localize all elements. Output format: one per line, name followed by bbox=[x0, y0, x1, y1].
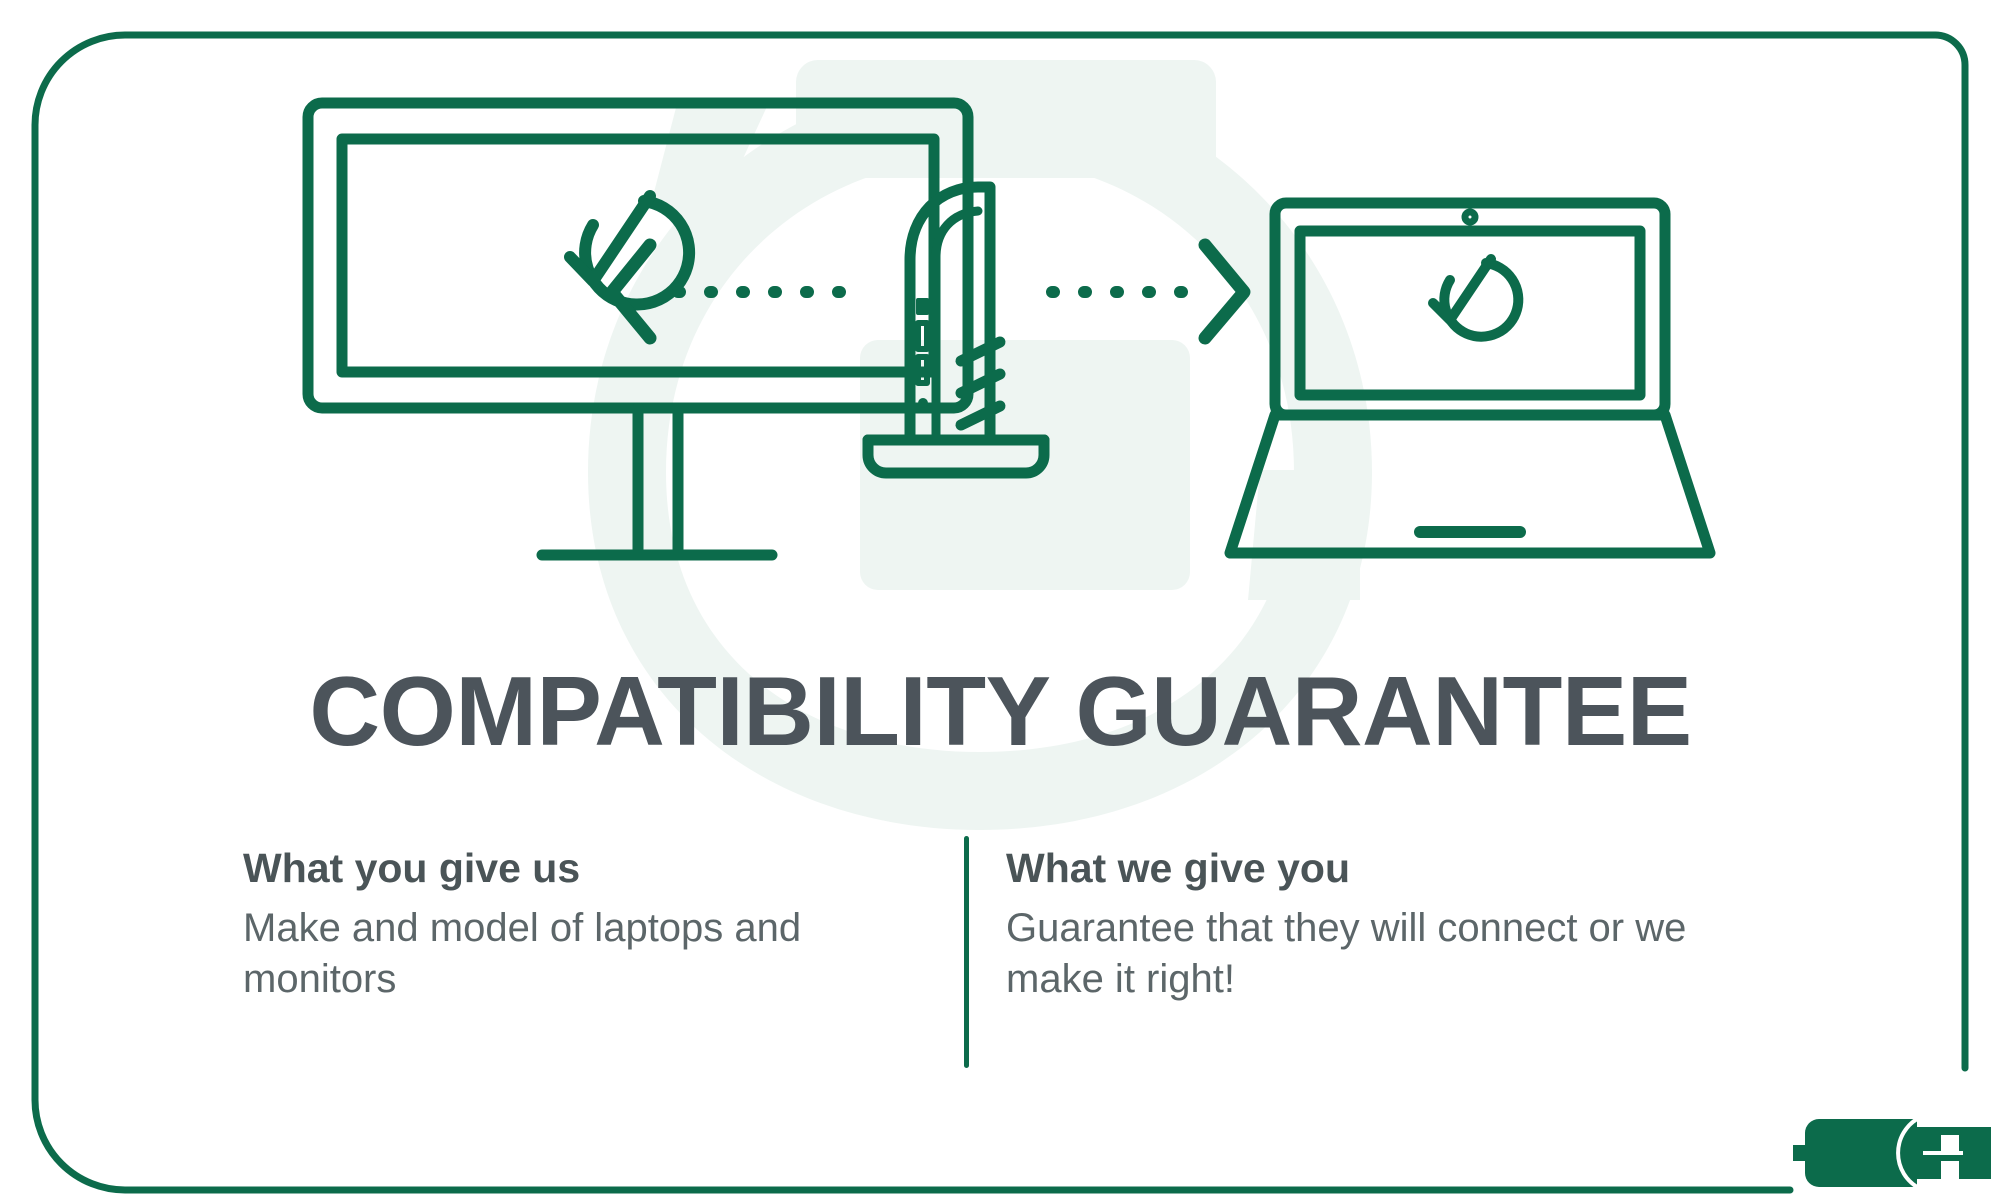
detail-column-what-you-give-us: What you give us Make and model of lapto… bbox=[243, 848, 933, 1005]
detail-column-what-we-give-you: What we give you Guarantee that they wil… bbox=[1006, 848, 1696, 1005]
device-illustration bbox=[300, 95, 1720, 605]
detail-body-left: Make and model of laptops and monitors bbox=[243, 903, 933, 1005]
column-divider bbox=[964, 836, 969, 1068]
arrow-right-dotted-icon bbox=[1052, 245, 1244, 338]
monitor-check-circle-icon bbox=[570, 196, 689, 305]
laptop-icon bbox=[1230, 203, 1710, 553]
usb-plug-logo bbox=[1793, 1105, 2001, 1201]
arrow-left-dotted-icon bbox=[612, 245, 860, 338]
infographic-card: COMPATIBILITY GUARANTEE What you give us… bbox=[0, 0, 2001, 1201]
docking-station-icon bbox=[868, 187, 1044, 473]
page-title: COMPATIBILITY GUARANTEE bbox=[0, 662, 2001, 760]
detail-body-right: Guarantee that they will connect or we m… bbox=[1006, 903, 1696, 1005]
details-section: What you give us Make and model of lapto… bbox=[243, 848, 1803, 1078]
laptop-check-circle-icon bbox=[1433, 259, 1518, 337]
detail-heading-right: What we give you bbox=[1006, 848, 1696, 889]
detail-heading-left: What you give us bbox=[243, 848, 933, 889]
